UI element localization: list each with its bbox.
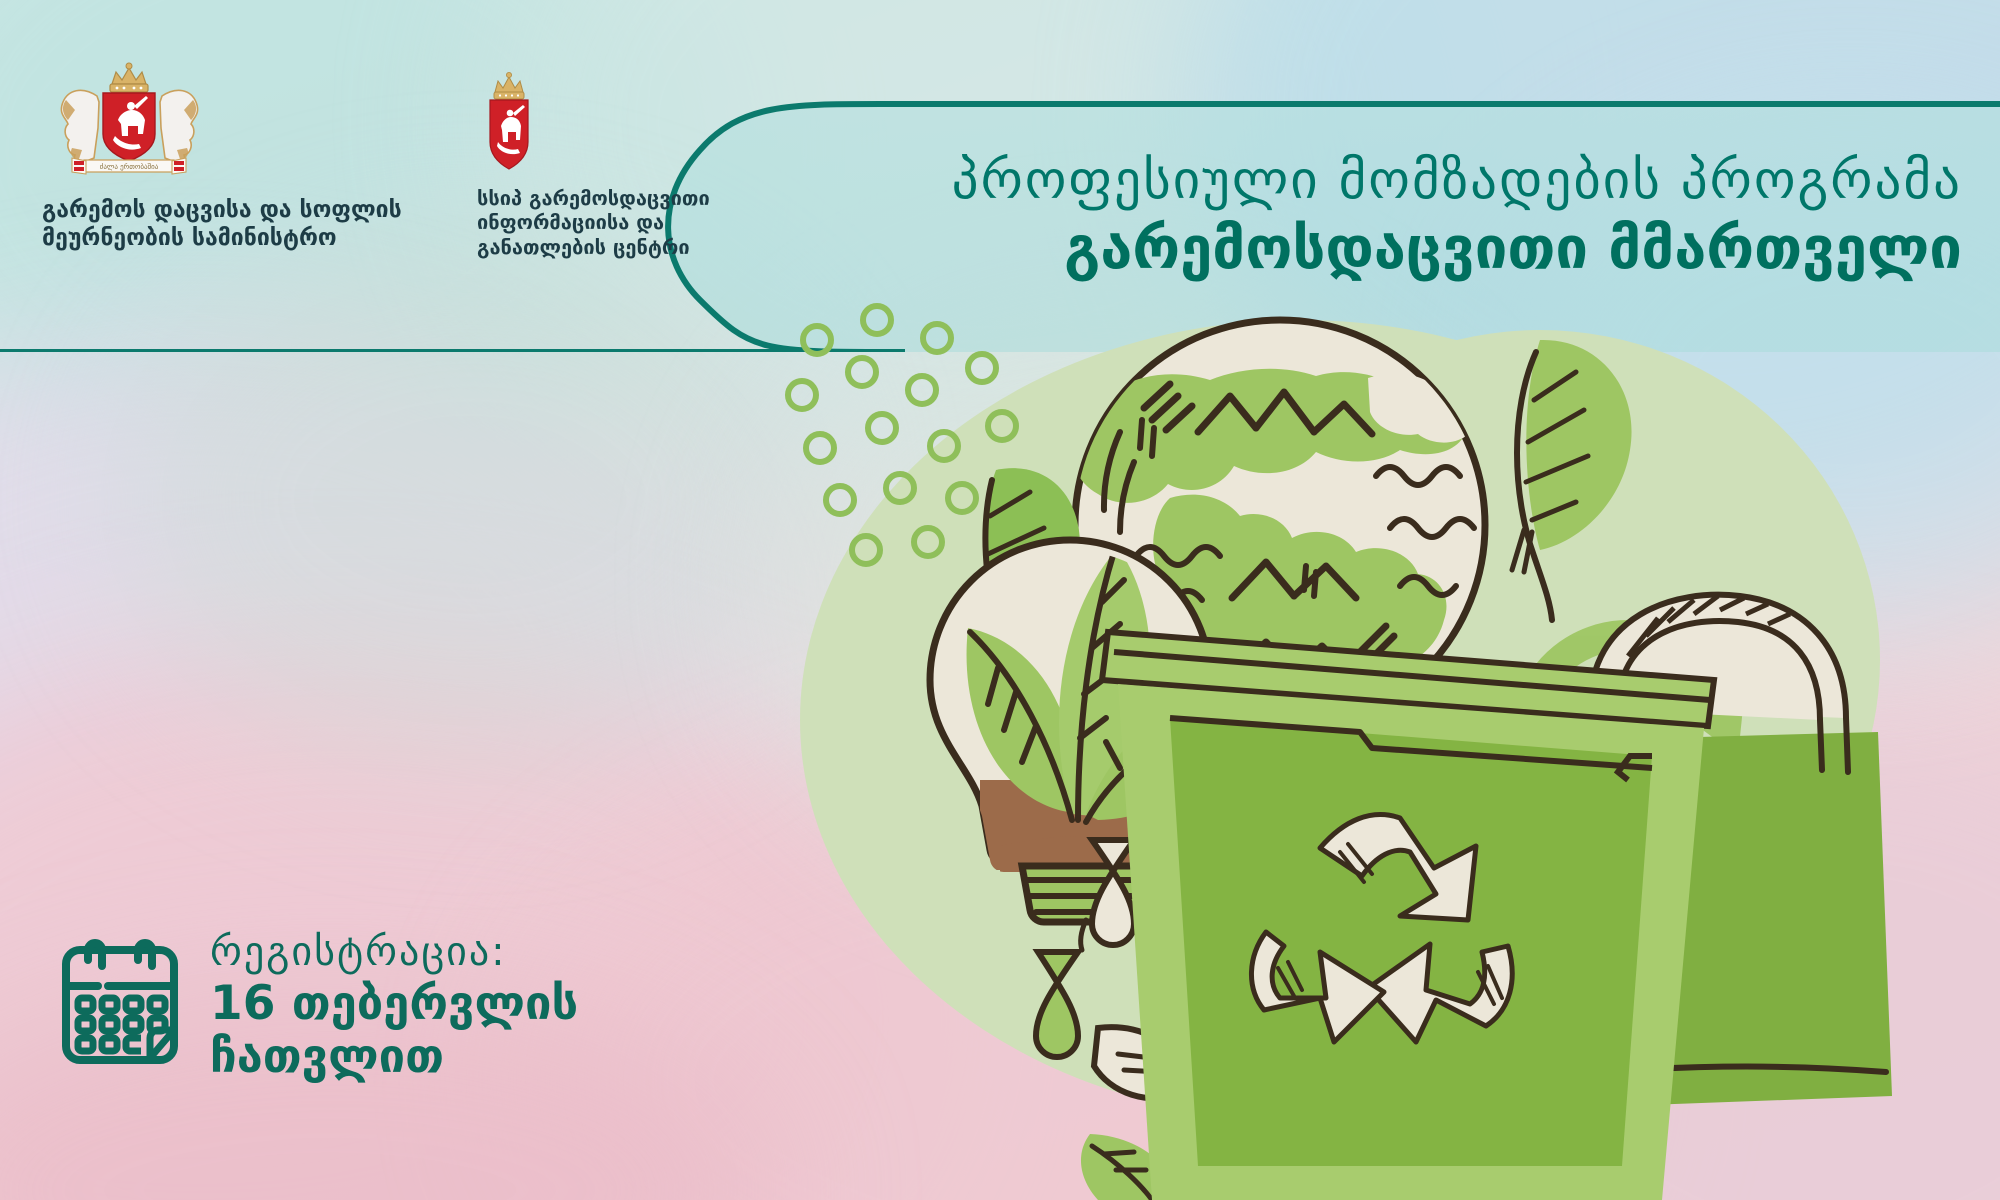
- eco-illustration: [700, 280, 2000, 1200]
- program-title: გარემოსდაცვითი მმართველი: [822, 215, 1962, 282]
- recycle-bin-icon: [1102, 632, 1714, 1200]
- registration-text: რეგისტრაცია: 16 თებერვლის ჩათვლით: [210, 928, 578, 1083]
- center-logo-line2: ინფორმაციისა და: [477, 210, 807, 234]
- center-logo: სსიპ გარემოსდაცვითი ინფორმაციისა და განა…: [477, 70, 807, 259]
- ministry-logo: ძალა ერთობაშია გარემოს დაცვისა და სოფლის…: [42, 62, 472, 252]
- georgia-shield-emblem-icon: [477, 70, 541, 174]
- ministry-logo-text: გარემოს დაცვისა და სოფლის მეურნეობის სამ…: [42, 196, 472, 252]
- center-logo-line3: განათლების ცენტრი: [477, 235, 807, 259]
- registration-block: რეგისტრაცია: 16 თებერვლის ჩათვლით: [58, 928, 578, 1083]
- ministry-logo-line2: მეურნეობის სამინისტრო: [42, 224, 472, 252]
- registration-date-line1: 16 თებერვლის: [210, 978, 578, 1031]
- program-title-block: პროფესიული მომზადების პროგრამა გარემოსდა…: [822, 150, 1962, 283]
- poster-canvas: ძალა ერთობაშია გარემოს დაცვისა და სოფლის…: [0, 0, 2000, 1200]
- registration-label: რეგისტრაცია:: [210, 930, 578, 974]
- center-logo-line1: სსიპ გარემოსდაცვითი: [477, 186, 807, 210]
- program-subtitle: პროფესიული მომზადების პროგრამა: [822, 150, 1962, 211]
- ministry-logo-line1: გარემოს დაცვისა და სოფლის: [42, 196, 472, 224]
- calendar-icon: [58, 938, 182, 1074]
- registration-date-line2: ჩათვლით: [210, 1031, 578, 1084]
- georgia-coat-of-arms-icon: ძალა ერთობაშია: [42, 62, 217, 180]
- svg-text:ძალა ერთობაშია: ძალა ერთობაშია: [100, 162, 159, 171]
- center-logo-text: სსიპ გარემოსდაცვითი ინფორმაციისა და განა…: [477, 186, 807, 259]
